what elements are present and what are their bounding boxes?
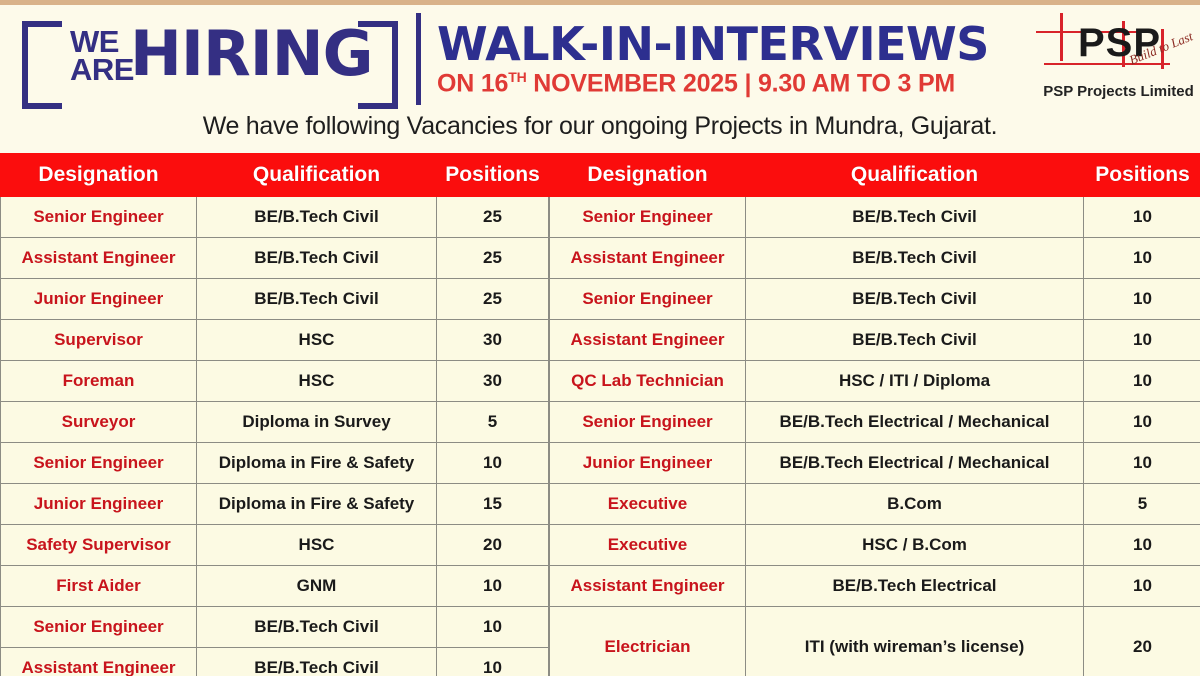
- cell-qualification: BE/B.Tech Civil: [197, 238, 437, 279]
- we-are-hiring-lockup: WE ARE HIRING: [8, 9, 408, 109]
- psp-logo: PSP Build to Last PSP Projects Limited: [1018, 7, 1200, 111]
- cell-designation: Assistant Engineer: [550, 320, 746, 361]
- table-header-row: Designation Qualification Positions: [1, 154, 549, 197]
- cell-qualification: BE/B.Tech Civil: [746, 238, 1084, 279]
- cell-designation: QC Lab Technician: [550, 361, 746, 402]
- cell-positions: 10: [1084, 525, 1200, 566]
- date-prefix: ON 16: [437, 70, 508, 98]
- cell-positions: 25: [437, 197, 549, 238]
- table-row: Junior EngineerDiploma in Fire & Safety1…: [1, 484, 549, 525]
- table-row: ExecutiveB.Com5: [550, 484, 1200, 525]
- cell-designation: Senior Engineer: [550, 197, 746, 238]
- table-row: Senior EngineerBE/B.Tech Civil10: [550, 279, 1200, 320]
- cell-qualification: HSC / ITI / Diploma: [746, 361, 1084, 402]
- table-row: Assistant EngineerBE/B.Tech Civil10: [550, 320, 1200, 361]
- cell-positions: 20: [437, 525, 549, 566]
- are-text: ARE: [70, 56, 136, 85]
- we-are-text: WE ARE: [70, 28, 136, 85]
- cell-positions: 25: [437, 238, 549, 279]
- table-row: Assistant EngineerBE/B.Tech Civil10: [1, 648, 549, 676]
- cell-designation: Assistant Engineer: [550, 238, 746, 279]
- table-row: Junior EngineerBE/B.Tech Civil25: [1, 279, 549, 320]
- cell-qualification: HSC: [197, 525, 437, 566]
- column-header-positions: Positions: [1084, 154, 1200, 197]
- cell-designation: Supervisor: [1, 320, 197, 361]
- table-row: ExecutiveHSC / B.Com10: [550, 525, 1200, 566]
- cell-designation: Safety Supervisor: [1, 525, 197, 566]
- date-ordinal-suffix: TH: [508, 69, 526, 85]
- cell-qualification: HSC: [197, 320, 437, 361]
- cell-qualification: ITI (with wireman’s license): [746, 607, 1084, 676]
- cell-designation: Senior Engineer: [550, 279, 746, 320]
- cell-positions: 30: [437, 361, 549, 402]
- column-header-designation: Designation: [550, 154, 746, 197]
- vacancy-table-right-body: Senior EngineerBE/B.Tech Civil10Assistan…: [550, 197, 1200, 676]
- cell-positions: 5: [437, 402, 549, 443]
- cell-positions: 10: [1084, 279, 1200, 320]
- cell-qualification: BE/B.Tech Electrical / Mechanical: [746, 443, 1084, 484]
- table-row: Junior EngineerBE/B.Tech Electrical / Me…: [550, 443, 1200, 484]
- cell-positions: 25: [437, 279, 549, 320]
- table-row: Assistant EngineerBE/B.Tech Electrical10: [550, 566, 1200, 607]
- date-rest: NOVEMBER 2025 | 9.30 AM TO 3 PM: [527, 70, 956, 98]
- cell-positions: 15: [437, 484, 549, 525]
- header-divider: [416, 13, 421, 105]
- cell-designation: Senior Engineer: [1, 197, 197, 238]
- poster-header: WE ARE HIRING WALK-IN-INTERVIEWS ON 16TH…: [0, 5, 1200, 112]
- table-header-row: Designation Qualification Positions: [550, 154, 1200, 197]
- cell-positions: 5: [1084, 484, 1200, 525]
- table-row: Senior EngineerBE/B.Tech Civil25: [1, 197, 549, 238]
- cell-qualification: Diploma in Fire & Safety: [197, 443, 437, 484]
- cell-qualification: BE/B.Tech Civil: [197, 648, 437, 676]
- cell-designation: Junior Engineer: [550, 443, 746, 484]
- walkin-date-line: ON 16TH NOVEMBER 2025 | 9.30 AM TO 3 PM: [437, 69, 1012, 98]
- psp-company-name: PSP Projects Limited: [1026, 83, 1200, 100]
- cell-designation: Assistant Engineer: [1, 648, 197, 676]
- cell-qualification: BE/B.Tech Civil: [746, 197, 1084, 238]
- table-row: First AiderGNM10: [1, 566, 549, 607]
- cell-positions: 10: [437, 566, 549, 607]
- bracket-left-icon: [22, 21, 62, 109]
- cell-positions: 10: [1084, 443, 1200, 484]
- cell-designation: Senior Engineer: [550, 402, 746, 443]
- column-header-positions: Positions: [437, 154, 549, 197]
- cell-designation: Executive: [550, 484, 746, 525]
- vacancy-table-right: Designation Qualification Positions Seni…: [549, 153, 1200, 676]
- cell-designation: Assistant Engineer: [1, 238, 197, 279]
- cell-positions: 20: [1084, 607, 1200, 676]
- cell-designation: Electrician: [550, 607, 746, 676]
- table-row: SurveyorDiploma in Survey5: [1, 402, 549, 443]
- cell-designation: Junior Engineer: [1, 484, 197, 525]
- walkin-block: WALK-IN-INTERVIEWS ON 16TH NOVEMBER 2025…: [437, 19, 1012, 99]
- cell-positions: 10: [1084, 197, 1200, 238]
- cell-designation: Executive: [550, 525, 746, 566]
- table-row: QC Lab TechnicianHSC / ITI / Diploma10: [550, 361, 1200, 402]
- cell-designation: Senior Engineer: [1, 607, 197, 648]
- cell-qualification: Diploma in Survey: [197, 402, 437, 443]
- table-row: Senior EngineerBE/B.Tech Civil10: [1, 607, 549, 648]
- cell-qualification: BE/B.Tech Electrical / Mechanical: [746, 402, 1084, 443]
- table-row: Assistant EngineerBE/B.Tech Civil25: [1, 238, 549, 279]
- table-row: Safety SupervisorHSC20: [1, 525, 549, 566]
- column-header-qualification: Qualification: [197, 154, 437, 197]
- cell-positions: 10: [437, 648, 549, 676]
- vacancy-tables: Designation Qualification Positions Seni…: [0, 153, 1200, 676]
- vacancies-subtitle: We have following Vacancies for our ongo…: [0, 112, 1200, 141]
- cell-designation: Foreman: [1, 361, 197, 402]
- table-row: Senior EngineerBE/B.Tech Civil10: [550, 197, 1200, 238]
- column-header-designation: Designation: [1, 154, 197, 197]
- cell-positions: 10: [1084, 320, 1200, 361]
- cell-qualification: BE/B.Tech Electrical: [746, 566, 1084, 607]
- cell-positions: 10: [1084, 402, 1200, 443]
- vacancy-table-left: Designation Qualification Positions Seni…: [0, 153, 549, 676]
- cell-qualification: Diploma in Fire & Safety: [197, 484, 437, 525]
- cell-designation: Surveyor: [1, 402, 197, 443]
- hiring-headline: HIRING: [130, 23, 373, 85]
- cell-qualification: BE/B.Tech Civil: [197, 197, 437, 238]
- cell-positions: 10: [437, 607, 549, 648]
- cell-qualification: HSC / B.Com: [746, 525, 1084, 566]
- cell-positions: 30: [437, 320, 549, 361]
- psp-logo-mark: PSP Build to Last: [1018, 7, 1198, 79]
- cell-qualification: GNM: [197, 566, 437, 607]
- cell-designation: First Aider: [1, 566, 197, 607]
- walkin-title: WALK-IN-INTERVIEWS: [437, 21, 1012, 68]
- cell-qualification: B.Com: [746, 484, 1084, 525]
- table-row: ElectricianITI (with wireman’s license)2…: [550, 607, 1200, 676]
- cell-designation: Assistant Engineer: [550, 566, 746, 607]
- cell-qualification: BE/B.Tech Civil: [746, 279, 1084, 320]
- cell-designation: Junior Engineer: [1, 279, 197, 320]
- cell-qualification: BE/B.Tech Civil: [197, 607, 437, 648]
- hiring-poster: WE ARE HIRING WALK-IN-INTERVIEWS ON 16TH…: [0, 0, 1200, 676]
- cell-qualification: BE/B.Tech Civil: [197, 279, 437, 320]
- table-row: Assistant EngineerBE/B.Tech Civil10: [550, 238, 1200, 279]
- cell-positions: 10: [1084, 238, 1200, 279]
- column-header-qualification: Qualification: [746, 154, 1084, 197]
- logo-crosshair-icon: [1060, 13, 1063, 61]
- cell-designation: Senior Engineer: [1, 443, 197, 484]
- cell-positions: 10: [1084, 566, 1200, 607]
- vacancy-table-left-body: Senior EngineerBE/B.Tech Civil25Assistan…: [1, 197, 549, 676]
- table-row: ForemanHSC30: [1, 361, 549, 402]
- table-row: Senior EngineerDiploma in Fire & Safety1…: [1, 443, 549, 484]
- table-row: SupervisorHSC30: [1, 320, 549, 361]
- cell-positions: 10: [437, 443, 549, 484]
- cell-positions: 10: [1084, 361, 1200, 402]
- cell-qualification: HSC: [197, 361, 437, 402]
- table-row: Senior EngineerBE/B.Tech Electrical / Me…: [550, 402, 1200, 443]
- cell-qualification: BE/B.Tech Civil: [746, 320, 1084, 361]
